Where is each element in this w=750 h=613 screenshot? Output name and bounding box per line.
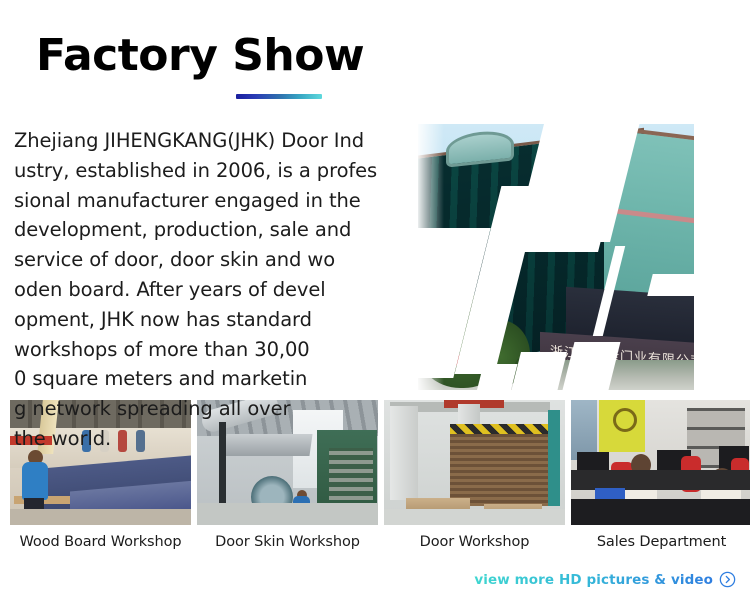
- view-more-label: view more HD pictures & video: [474, 572, 713, 588]
- company-intro-paragraph: Zhejiang JIHENGKANG(JHK) Door Ind ustry,…: [14, 126, 426, 454]
- sales-department-photo[interactable]: [571, 400, 750, 525]
- thumbnail-caption: Wood Board Workshop: [10, 533, 191, 551]
- factory-show-page: Factory Show Zhejiang JIHENGKANG(JHK) Do…: [0, 0, 750, 613]
- chevron-right-circle-icon[interactable]: [719, 571, 736, 588]
- view-more-link[interactable]: view more HD pictures & video: [474, 571, 736, 588]
- thumbnail-caption: Sales Department: [571, 533, 750, 551]
- title-block: Factory Show: [36, 30, 456, 82]
- jhk-slash-overlay: [647, 274, 694, 296]
- page-title: Factory Show: [36, 30, 456, 82]
- factory-hero-image: 浙江基恒康门业有限公司 ZHEJIANG JIHENGKANG DOOR IND…: [418, 124, 694, 390]
- thumbnail-caption: Door Skin Workshop: [197, 533, 378, 551]
- thumbnail-caption: Door Workshop: [384, 533, 565, 551]
- thumbnail-item[interactable]: Sales Department: [571, 400, 750, 551]
- title-underline-accent: [236, 94, 322, 99]
